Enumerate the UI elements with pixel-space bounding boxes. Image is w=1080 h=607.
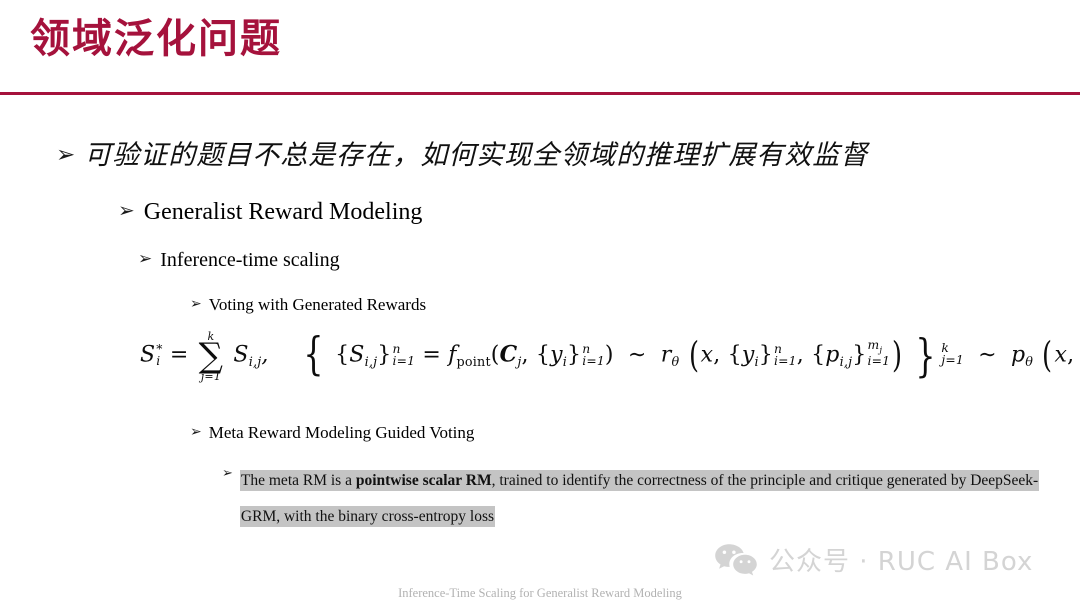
arrow-bullet-icon: ➢ xyxy=(190,296,202,312)
bullet-level4-meta-label: Meta Reward Modeling Guided Voting xyxy=(209,423,475,443)
arrow-bullet-icon: ➢ xyxy=(56,142,75,168)
page-title: 领域泛化问题 xyxy=(30,16,282,62)
highlight-text-bold: pointwise scalar RM xyxy=(356,472,492,489)
arrow-bullet-icon: ➢ xyxy=(190,424,202,440)
bullet-level1: ➢ 可验证的题目不总是存在，如何实现全领域的推理扩展有效监督 xyxy=(56,133,868,172)
brand-label: 公众号 · RUC AI Box xyxy=(769,541,1033,578)
arrow-bullet-icon: ➢ xyxy=(118,198,135,222)
math-formula: S*i = k∑j=1 Si,j, { {Si,j}ni=1 = fpoint(… xyxy=(140,330,1080,381)
brand-watermark: 公众号 · RUC AI Box xyxy=(714,541,1033,578)
bullet-level2: ➢ Generalist Reward Modeling xyxy=(118,199,422,226)
bullet-level4-voting-label: Voting with Generated Rewards xyxy=(209,295,426,315)
footer-caption: Inference-Time Scaling for Generalist Re… xyxy=(0,586,1080,601)
arrow-bullet-icon: ➢ xyxy=(138,249,152,269)
arrow-bullet-icon: ➢ xyxy=(222,466,233,481)
wechat-icon xyxy=(714,543,758,577)
formula-f-subscript: point xyxy=(457,355,491,370)
bullet-level3-label: Inference-time scaling xyxy=(160,249,339,272)
highlighted-paragraph: The meta RM is a pointwise scalar RM, tr… xyxy=(240,463,1042,535)
bullet-level2-label: Generalist Reward Modeling xyxy=(144,199,423,226)
bullet-level4-voting: ➢ Voting with Generated Rewards xyxy=(190,295,426,315)
bullet-level4-meta: ➢ Meta Reward Modeling Guided Voting xyxy=(190,423,474,443)
bullet-level1-label: 可验证的题目不总是存在，如何实现全领域的推理扩展有效监督 xyxy=(84,133,868,172)
highlight-text-part1: The meta RM is a xyxy=(241,472,356,489)
bullet-level5-highlighted: ➢ The meta RM is a pointwise scalar RM, … xyxy=(222,463,1042,535)
title-divider xyxy=(0,92,1080,95)
bullet-level3: ➢ Inference-time scaling xyxy=(138,249,340,272)
